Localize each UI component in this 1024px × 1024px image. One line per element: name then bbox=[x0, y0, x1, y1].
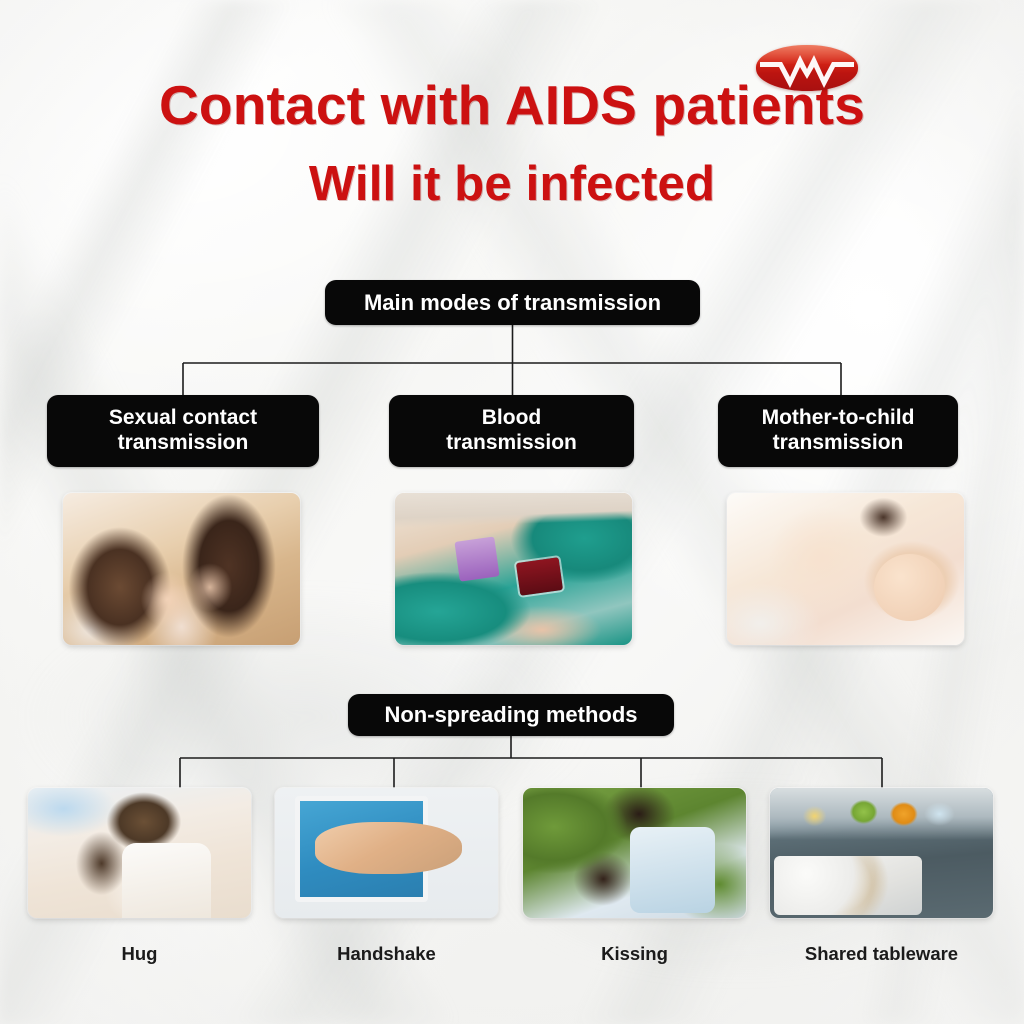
photo-shared-tableware-image bbox=[770, 788, 993, 918]
caption-handshake: Handshake bbox=[275, 943, 498, 965]
photo-hug bbox=[28, 788, 251, 918]
node-mother-label-line-1: Mother-to-child bbox=[762, 406, 915, 429]
page-title-line-1: Contact with AIDS patients bbox=[0, 78, 1024, 133]
node-mother-to-child-transmission: Mother-to-child transmission bbox=[718, 395, 958, 467]
node-main-label: Main modes of transmission bbox=[364, 290, 661, 316]
node-blood-label: Blood transmission bbox=[446, 406, 577, 455]
photo-kissing-image bbox=[523, 788, 746, 918]
heartbeat-w-logo-icon bbox=[756, 45, 858, 91]
photo-mother-to-child bbox=[727, 493, 964, 645]
node-non-spreading-methods: Non-spreading methods bbox=[348, 694, 674, 736]
photo-mother-to-child-image bbox=[727, 493, 964, 645]
poster-header: Contact with AIDS patients Will it be in… bbox=[0, 78, 1024, 209]
node-sexual-contact-transmission: Sexual contact transmission bbox=[47, 395, 319, 467]
node-mother-label-line-2: transmission bbox=[773, 431, 904, 454]
node-sexual-label-line-2: transmission bbox=[118, 431, 249, 454]
node-blood-label-line-2: transmission bbox=[446, 431, 577, 454]
node-non-spreading-label: Non-spreading methods bbox=[384, 702, 637, 728]
node-blood-label-line-1: Blood bbox=[482, 406, 541, 429]
photo-blood-transmission bbox=[395, 493, 632, 645]
node-main-modes-of-transmission: Main modes of transmission bbox=[325, 280, 700, 325]
caption-shared-tableware: Shared tableware bbox=[770, 943, 993, 965]
photo-hug-image bbox=[28, 788, 251, 918]
caption-hug: Hug bbox=[28, 943, 251, 965]
node-blood-transmission: Blood transmission bbox=[389, 395, 634, 467]
node-sexual-label: Sexual contact transmission bbox=[109, 406, 257, 455]
infographic-poster: Contact with AIDS patients Will it be in… bbox=[0, 0, 1024, 1024]
photo-handshake-image bbox=[275, 788, 498, 918]
photo-handshake bbox=[275, 788, 498, 918]
photo-sexual-contact-image bbox=[63, 493, 300, 645]
photo-kissing bbox=[523, 788, 746, 918]
node-mother-label: Mother-to-child transmission bbox=[762, 406, 915, 455]
page-title-line-2: Will it be infected bbox=[0, 160, 1024, 209]
node-sexual-label-line-1: Sexual contact bbox=[109, 406, 257, 429]
photo-shared-tableware bbox=[770, 788, 993, 918]
caption-kissing: Kissing bbox=[523, 943, 746, 965]
photo-sexual-contact bbox=[63, 493, 300, 645]
photo-blood-transmission-image bbox=[395, 493, 632, 645]
